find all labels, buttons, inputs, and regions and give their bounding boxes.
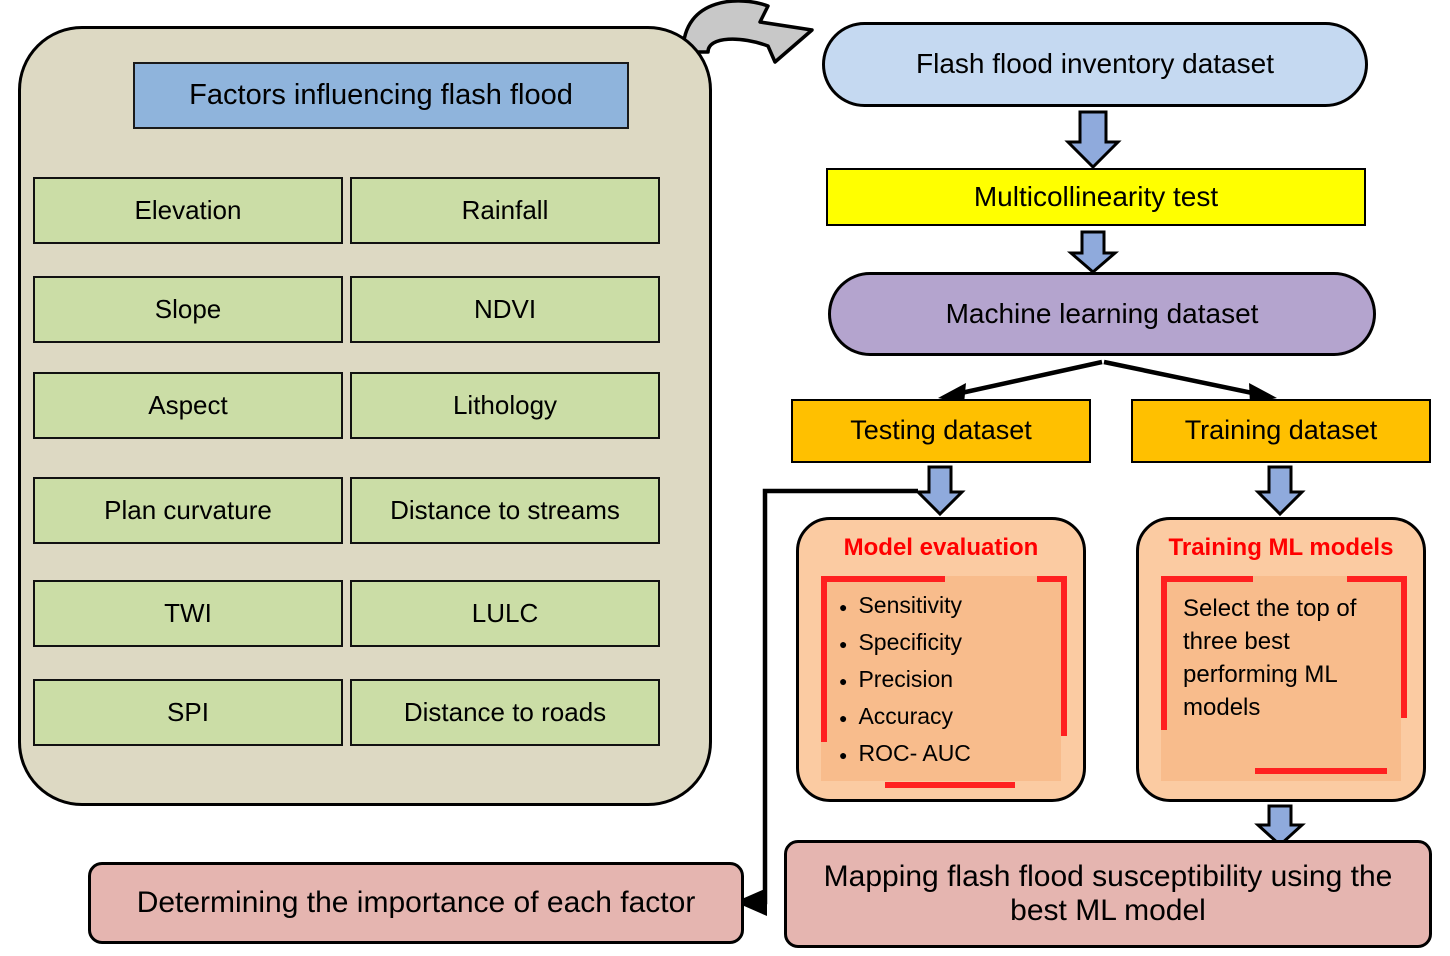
metric-item: Specificity bbox=[839, 629, 971, 656]
training-models-title: Training ML models bbox=[1139, 534, 1423, 562]
curved-arrow-outline-white bbox=[697, 2, 812, 30]
card-model-evaluation[interactable]: Model evaluation Sensitivity Specificity… bbox=[796, 517, 1086, 802]
factor-box-twi[interactable]: TWI bbox=[33, 580, 343, 647]
node-testing-dataset[interactable]: Testing dataset bbox=[791, 399, 1091, 463]
node-training-dataset[interactable]: Training dataset bbox=[1131, 399, 1431, 463]
metric-item: ROC- AUC bbox=[839, 740, 971, 767]
factor-box-lulc[interactable]: LULC bbox=[350, 580, 660, 647]
flowchart-diagram: Factors influencing flash flood Elevatio… bbox=[0, 0, 1450, 956]
arrow-multicollinearity-to-mldataset bbox=[1071, 232, 1115, 272]
model-evaluation-metric-list: Sensitivity Specificity Precision Accura… bbox=[839, 592, 971, 777]
node-multicollinearity-test[interactable]: Multicollinearity test bbox=[826, 168, 1366, 226]
factors-panel-title: Factors influencing flash flood bbox=[133, 62, 629, 129]
bracket-right-vertical bbox=[1061, 576, 1067, 736]
arrow-mldataset-to-training bbox=[1104, 362, 1277, 404]
node-flash-flood-inventory-dataset[interactable]: Flash flood inventory dataset bbox=[822, 22, 1368, 107]
bracket-bottom bbox=[885, 782, 1015, 788]
factor-box-distance-to-streams[interactable]: Distance to streams bbox=[350, 477, 660, 544]
factor-box-slope[interactable]: Slope bbox=[33, 276, 343, 343]
factor-box-aspect[interactable]: Aspect bbox=[33, 372, 343, 439]
curved-arrow-factors-to-inventory bbox=[683, 1, 812, 62]
card-training-ml-models[interactable]: Training ML models Select the top of thr… bbox=[1136, 517, 1426, 802]
bracket-top-left bbox=[821, 576, 945, 582]
node-machine-learning-dataset[interactable]: Machine learning dataset bbox=[828, 272, 1376, 356]
factor-box-distance-to-roads[interactable]: Distance to roads bbox=[350, 679, 660, 746]
node-determining-importance[interactable]: Determining the importance of each facto… bbox=[88, 862, 744, 944]
factor-box-spi[interactable]: SPI bbox=[33, 679, 343, 746]
metric-item: Precision bbox=[839, 666, 971, 693]
bracket-left-vertical bbox=[821, 576, 827, 742]
bracket-bottom bbox=[1255, 768, 1387, 774]
metric-item: Sensitivity bbox=[839, 592, 971, 619]
arrow-inventory-to-multicollinearity bbox=[1068, 112, 1118, 167]
bracket-top-right bbox=[1347, 576, 1407, 582]
arrow-training-to-models bbox=[1258, 467, 1302, 514]
node-mapping-flash-flood-susceptibility[interactable]: Mapping flash flood susceptibility using… bbox=[784, 840, 1432, 948]
arrow-testing-to-evaluation bbox=[918, 467, 962, 514]
factor-box-lithology[interactable]: Lithology bbox=[350, 372, 660, 439]
training-models-description: Select the top of three best performing … bbox=[1183, 592, 1381, 724]
factor-box-rainfall[interactable]: Rainfall bbox=[350, 177, 660, 244]
metric-item: Accuracy bbox=[839, 703, 971, 730]
factor-box-ndvi[interactable]: NDVI bbox=[350, 276, 660, 343]
arrow-mldataset-to-testing bbox=[938, 362, 1102, 404]
bracket-left-vertical bbox=[1161, 576, 1167, 730]
factor-box-plan-curvature[interactable]: Plan curvature bbox=[33, 477, 343, 544]
bracket-top-left bbox=[1161, 576, 1253, 582]
bracket-right-vertical bbox=[1401, 576, 1407, 718]
factor-box-elevation[interactable]: Elevation bbox=[33, 177, 343, 244]
model-evaluation-title: Model evaluation bbox=[799, 534, 1083, 562]
